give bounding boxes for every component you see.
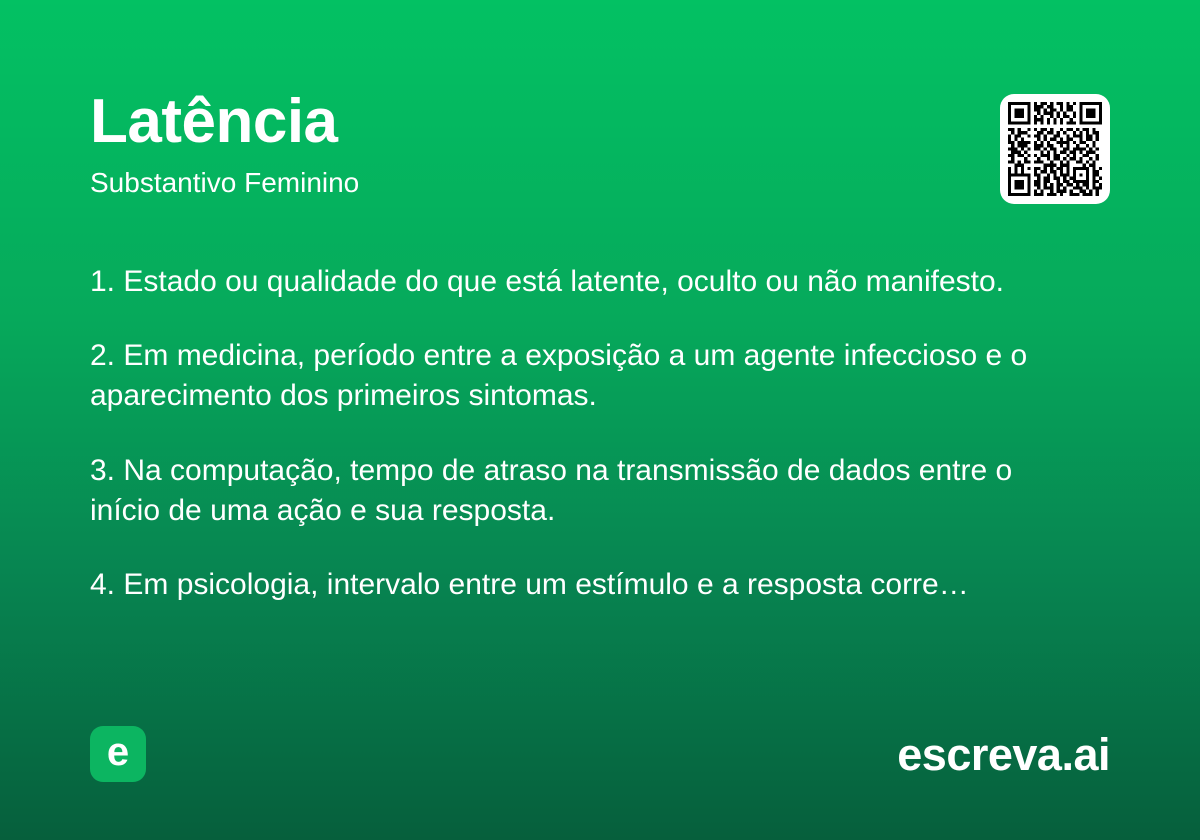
definitions-list: 1. Estado ou qualidade do que está laten…: [90, 262, 1090, 605]
headings-group: Latência Substantivo Feminino: [90, 88, 359, 199]
definition-item: 2. Em medicina, período entre a exposiçã…: [90, 336, 1090, 416]
brand-name: escreva.ai: [897, 732, 1110, 777]
qr-code-icon[interactable]: [1000, 94, 1110, 204]
definition-item: 3. Na computação, tempo de atraso na tra…: [90, 451, 1090, 531]
dictionary-card: Latência Substantivo Feminino: [0, 0, 1200, 840]
escreva-logo-icon: e: [90, 726, 146, 782]
definition-item: 4. Em psicologia, intervalo entre um est…: [90, 565, 1090, 605]
page-title: Latência: [90, 90, 359, 154]
definition-item: 1. Estado ou qualidade do que está laten…: [90, 262, 1090, 302]
word-class-label: Substantivo Feminino: [90, 166, 359, 200]
card-header: Latência Substantivo Feminino: [90, 88, 1110, 204]
card-footer: e escreva.ai: [90, 723, 1110, 785]
